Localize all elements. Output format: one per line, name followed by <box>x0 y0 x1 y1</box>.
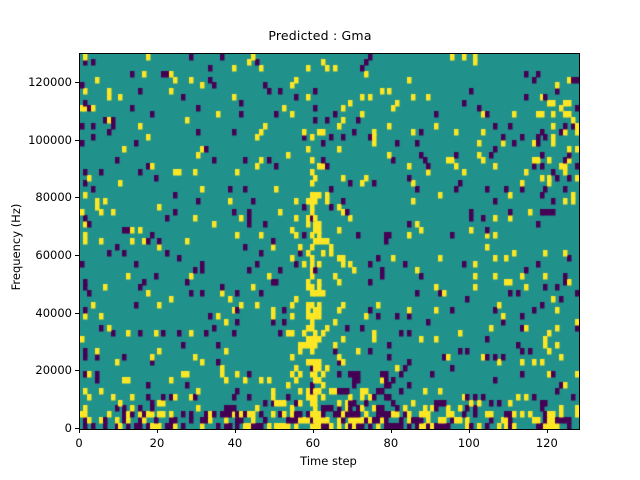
y-axis-tick-label: 80000 <box>35 190 72 204</box>
chart-title: Predicted : Gma <box>0 28 640 43</box>
x-axis-label: Time step <box>79 454 578 468</box>
y-axis-tick-label: 40000 <box>35 306 72 320</box>
x-axis-tick-label: 20 <box>150 436 165 450</box>
y-axis-tick-label: 20000 <box>35 363 72 377</box>
figure-canvas: Predicted : Gma 020000400006000080000100… <box>0 0 640 480</box>
y-axis-tick-label: 0 <box>65 421 72 435</box>
heatmap-image <box>80 54 579 429</box>
x-axis-tick-label: 40 <box>228 436 243 450</box>
x-axis-tick-label: 0 <box>75 436 82 450</box>
x-axis-tick-label: 100 <box>458 436 480 450</box>
x-axis-tick-label: 80 <box>384 436 399 450</box>
heatmap-axes <box>79 53 580 430</box>
y-axis-tick-label: 60000 <box>35 248 72 262</box>
y-axis-tick-label: 120000 <box>28 75 72 89</box>
x-axis-tick-label: 120 <box>536 436 558 450</box>
y-axis-label: Frequency (Hz) <box>9 167 23 327</box>
x-axis-tick-label: 60 <box>306 436 321 450</box>
y-axis-tick-label: 100000 <box>28 133 72 147</box>
